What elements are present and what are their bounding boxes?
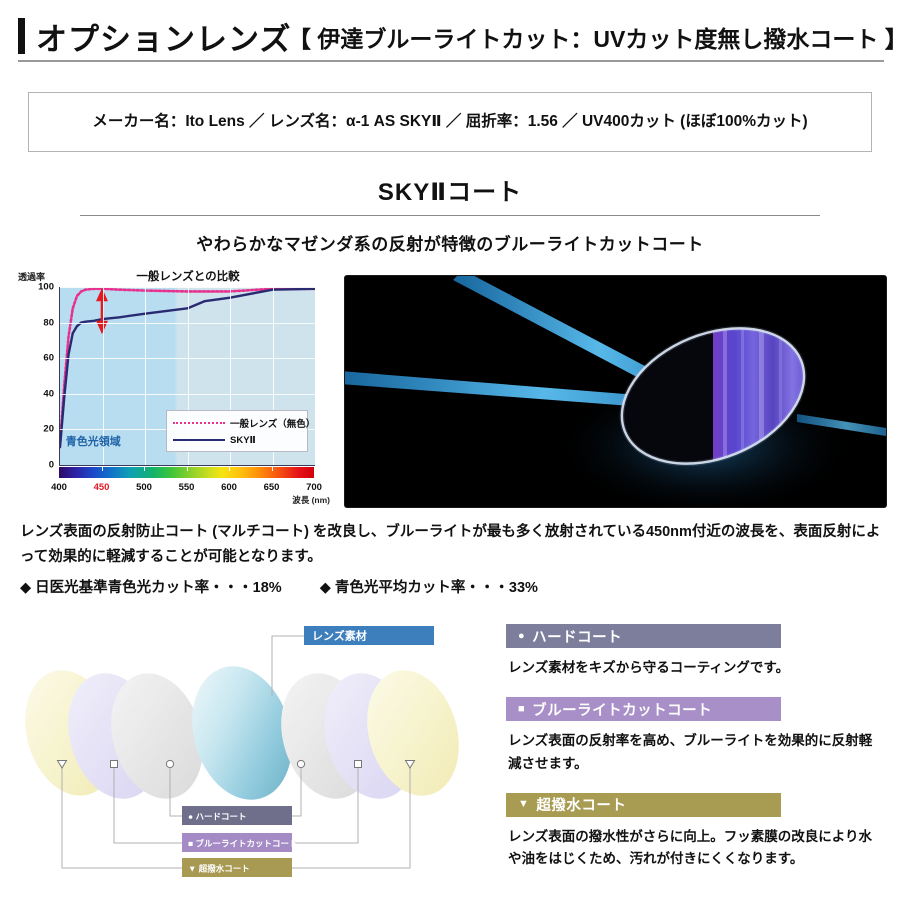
spectrum-tick-marks xyxy=(59,467,314,478)
legend-swatch-solid-icon xyxy=(173,439,225,441)
chart-x-tick: 600 xyxy=(221,482,237,493)
coating-description-list: ●ハードコートレンズ素材をキズから守るコーティングです。■ブルーライトカットコー… xyxy=(506,624,886,888)
chart-x-tick: 650 xyxy=(264,482,280,493)
chart-y-tick: 100 xyxy=(18,282,54,293)
coating-marker-icon-3: ▼ xyxy=(518,799,529,810)
coating-marker-icon-1: ● xyxy=(518,631,525,642)
header-divider xyxy=(18,60,884,62)
chart-x-tick: 450 xyxy=(94,482,110,493)
legend-item-sky2: SKYⅡ xyxy=(173,432,256,448)
coating-title-2: ブルーライトカットコート xyxy=(532,699,712,720)
chart-legend: 一般レンズ（無色） SKYⅡ xyxy=(166,410,308,452)
legend-item-general-lens: 一般レンズ（無色） xyxy=(173,415,315,431)
page-header: オプションレンズ 【 伊達ブルーライトカット：UVカット度無し撥水コート 】 xyxy=(0,14,900,60)
legend-label-sky2: SKYⅡ xyxy=(230,435,256,446)
legend-swatch-dotted-icon xyxy=(173,422,225,424)
coating-block-2: ■ブルーライトカットコートレンズ表面の反射率を高め、ブルーライトを効果的に反射軽… xyxy=(506,697,886,775)
diagram-callout-label-1: ● ハードコート xyxy=(188,812,247,822)
material-callout-label: レンズ素材 xyxy=(312,629,367,643)
title-accent-bar xyxy=(18,18,25,54)
chart-y-tick: 60 xyxy=(18,353,54,364)
chart-gridline-v xyxy=(145,287,146,465)
coating-block-3: ▼超撥水コートレンズ表面の撥水性がさらに向上。フッ素膜の改良により水や油をはじく… xyxy=(506,793,886,871)
chart-x-tick: 400 xyxy=(51,482,67,493)
cut-rate-bullets: ◆ 日医光基準青色光カット率・・・18% ◆ 青色光平均カット率・・・33% xyxy=(20,576,884,597)
coating-title-bar-2: ■ブルーライトカットコート xyxy=(506,697,781,721)
chart-title: 一般レンズとの比較 xyxy=(18,268,330,284)
spec-text: メーカー名：Ito Lens ／ レンズ名：α-1 AS SKYⅡ ／ 屈折率：… xyxy=(29,93,871,151)
bullet-average-rate: ◆ 青色光平均カット率・・・33% xyxy=(320,580,538,596)
coating-description-3: レンズ表面の撥水性がさらに向上。フッ素膜の改良により水や油をはじくため、汚れが付… xyxy=(508,826,876,871)
coating-title-bar-1: ●ハードコート xyxy=(506,624,781,648)
bullet-nichiikou-rate: ◆ 日医光基準青色光カット率・・・18% xyxy=(20,580,282,596)
chart-x-tick: 700 xyxy=(306,482,322,493)
diagram-callout-label-3: ▼ 超撥水コート xyxy=(188,864,250,874)
coating-block-1: ●ハードコートレンズ素材をキズから守るコーティングです。 xyxy=(506,624,886,679)
chart-y-tick: 0 xyxy=(18,460,54,471)
chart-y-tick: 20 xyxy=(18,424,54,435)
chart-gridline-v xyxy=(315,287,316,465)
transmittance-chart: 透過率 一般レンズとの比較 020406080100 4004505005506… xyxy=(18,268,330,506)
coating-title-bar-3: ▼超撥水コート xyxy=(506,793,781,817)
page-title: オプションレンズ xyxy=(36,14,291,59)
lens-layer-diagram: レンズ素材 ● ハードコート■ ブルーライトカットコート▼ 超撥水コート xyxy=(14,618,494,896)
diagram-callout-label-2: ■ ブルーライトカットコート xyxy=(188,839,298,849)
coating-marker-icon-2: ■ xyxy=(518,704,525,715)
chart-y-tick: 80 xyxy=(18,317,54,328)
lens-reflection-photo xyxy=(345,276,886,507)
coating-title-1: ハードコート xyxy=(532,626,622,647)
coating-description-1: レンズ素材をキズから守るコーティングです。 xyxy=(508,657,876,679)
blue-light-region-label: 青色光領域 xyxy=(66,433,121,449)
sky-section-lead: やわらかなマゼンダ系の反射が特徴のブルーライトカットコート xyxy=(0,230,900,255)
chart-x-tick: 500 xyxy=(136,482,152,493)
lens-layer-graphic: レンズ素材 ● ハードコート■ ブルーライトカットコート▼ 超撥水コート xyxy=(14,618,494,896)
chart-y-tick: 40 xyxy=(18,388,54,399)
page-subtitle: 【 伊達ブルーライトカット：UVカット度無し撥水コート 】 xyxy=(288,20,900,54)
sky-section-divider xyxy=(80,215,820,216)
coating-title-3: 超撥水コート xyxy=(536,794,626,815)
sky-section-heading: SKYⅡコート xyxy=(0,172,900,207)
spec-box: メーカー名：Ito Lens ／ レンズ名：α-1 AS SKYⅡ ／ 屈折率：… xyxy=(28,92,872,152)
chart-x-axis-label: 波長 (nm) xyxy=(292,494,330,506)
legend-label-general-lens: 一般レンズ（無色） xyxy=(230,416,315,430)
coating-description-2: レンズ表面の反射率を高め、ブルーライトを効果的に反射軽減させます。 xyxy=(508,730,876,775)
lens-product-page: オプションレンズ 【 伊達ブルーライトカット：UVカット度無し撥水コート 】 メ… xyxy=(0,0,900,900)
chart-x-tick: 550 xyxy=(179,482,195,493)
lens-photo-graphic xyxy=(345,276,886,507)
body-paragraph: レンズ表面の反射防止コート (マルチコート) を改良し、ブルーライトが最も多く放… xyxy=(20,520,884,571)
